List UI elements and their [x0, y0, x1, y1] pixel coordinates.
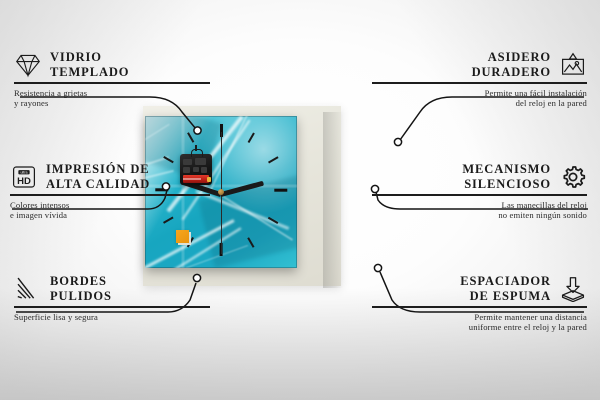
feature-impresion-alta-calidad[interactable]: ultra HD IMPRESIÓN DE ALTA CALIDAD Color… [10, 162, 225, 221]
feature-title-line1: BORDES [50, 274, 112, 289]
feature-desc-line1: Colores intensos [10, 200, 225, 211]
hanging-frame-icon [559, 52, 587, 78]
feature-title-line2: DE ESPUMA [460, 289, 551, 304]
infographic-canvas: VIDRIO TEMPLADO Resistencia a grietas y … [0, 0, 600, 400]
polished-edges-icon [14, 276, 42, 302]
feature-desc-line2: y rayones [14, 98, 229, 109]
feature-divider [372, 82, 587, 84]
feature-espaciador-de-espuma[interactable]: ESPACIADOR DE ESPUMA Permite mantener un… [372, 274, 587, 333]
feature-title-line1: ESPACIADOR [460, 274, 551, 289]
feature-divider [372, 306, 587, 308]
feature-title-line2: SILENCIOSO [462, 177, 551, 192]
feature-title-line1: ASIDERO [472, 50, 551, 65]
feature-desc-line2: uniforme entre el reloj y la pared [372, 322, 587, 333]
ultra-hd-icon-small-text: ultra [20, 170, 28, 174]
ultra-hd-icon: ultra HD [10, 164, 38, 190]
feature-desc-line1: Superficie lisa y segura [14, 312, 229, 323]
feature-title-line2: ALTA CALIDAD [46, 177, 150, 192]
feature-vidrio-templado[interactable]: VIDRIO TEMPLADO Resistencia a grietas y … [14, 50, 229, 109]
feature-desc-line1: Permite mantener una distancia [372, 312, 587, 323]
connector-dot-espaciador [374, 264, 381, 271]
connector-dot-vidrio [194, 127, 201, 134]
feature-title-line2: TEMPLADO [50, 65, 129, 80]
feature-divider [14, 82, 210, 84]
feature-title-line1: VIDRIO [50, 50, 129, 65]
connector-dot-asidero [394, 138, 401, 145]
feature-divider [10, 194, 210, 196]
feature-title-line2: DURADERO [472, 65, 551, 80]
feature-divider [14, 306, 210, 308]
feature-title-line1: IMPRESIÓN DE [46, 162, 150, 177]
feature-title-line1: MECANISMO [462, 162, 551, 177]
feature-mecanismo-silencioso[interactable]: MECANISMO SILENCIOSO Las manecillas del … [372, 162, 587, 221]
feature-divider [372, 194, 587, 196]
feature-desc-line2: e imagen vívida [10, 210, 225, 221]
ultra-hd-icon-big-text: HD [17, 175, 31, 186]
gear-icon [559, 164, 587, 190]
feature-desc-line2: no emiten ningún sonido [372, 210, 587, 221]
feature-desc-line1: Las manecillas del reloj [372, 200, 587, 211]
feature-desc-line1: Permite una fácil instalación [372, 88, 587, 99]
feature-bordes-pulidos[interactable]: BORDES PULIDOS Superficie lisa y segura [14, 274, 229, 322]
feature-title-line2: PULIDOS [50, 289, 112, 304]
feature-desc-line2: del reloj en la pared [372, 98, 587, 109]
diamond-icon [14, 52, 42, 78]
arrow-onto-pad-icon [559, 276, 587, 302]
feature-desc-line1: Resistencia a grietas [14, 88, 229, 99]
feature-asidero-duradero[interactable]: ASIDERO DURADERO Permite una fácil insta… [372, 50, 587, 109]
